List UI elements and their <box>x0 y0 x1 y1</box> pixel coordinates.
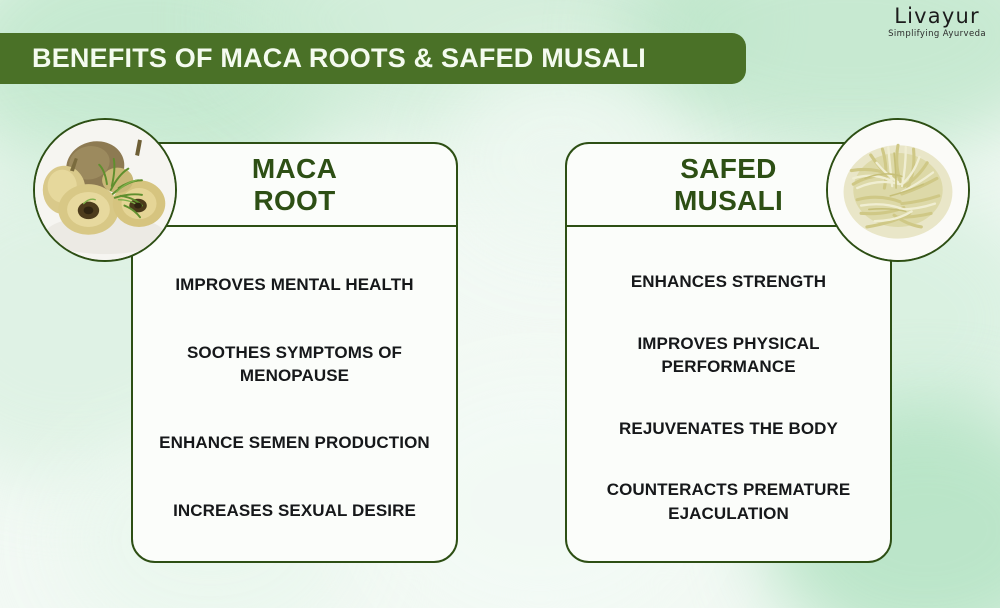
brand-tagline: Simplifying Ayurveda <box>888 30 986 39</box>
card-title-maca-root: MACA ROOT <box>252 153 337 216</box>
brand-name: Livayur <box>888 6 986 27</box>
benefit-item: ENHANCES STRENGTH <box>631 270 826 293</box>
card-header-maca-root: MACA ROOT <box>133 144 456 227</box>
infographic-page: Livayur Simplifying Ayurveda BENEFITS OF… <box>0 0 1000 608</box>
benefit-item: SOOTHES SYMPTOMS OF MENOPAUSE <box>149 341 440 387</box>
benefit-item: ENHANCE SEMEN PRODUCTION <box>159 431 430 454</box>
page-title: BENEFITS OF MACA ROOTS & SAFED MUSALI <box>32 43 646 74</box>
maca-root-photo <box>33 118 177 262</box>
card-title-safed-musali: SAFED MUSALI <box>674 153 783 216</box>
benefit-item: REJUVENATES THE BODY <box>619 417 838 440</box>
benefit-item: COUNTERACTS PREMATURE EJACULATION <box>583 478 874 524</box>
card-body-maca-root: IMPROVES MENTAL HEALTH SOOTHES SYMPTOMS … <box>133 227 456 562</box>
benefit-card-maca-root: MACA ROOT IMPROVES MENTAL HEALTH SOOTHES… <box>131 142 458 563</box>
card-body-safed-musali: ENHANCES STRENGTH IMPROVES PHYSICAL PERF… <box>567 227 890 562</box>
benefit-item: INCREASES SEXUAL DESIRE <box>173 499 416 522</box>
benefit-item: IMPROVES PHYSICAL PERFORMANCE <box>583 332 874 378</box>
benefit-item: IMPROVES MENTAL HEALTH <box>175 273 413 296</box>
brand-logo: Livayur Simplifying Ayurveda <box>888 6 986 39</box>
title-banner: BENEFITS OF MACA ROOTS & SAFED MUSALI <box>0 33 746 84</box>
safed-musali-photo <box>826 118 970 262</box>
